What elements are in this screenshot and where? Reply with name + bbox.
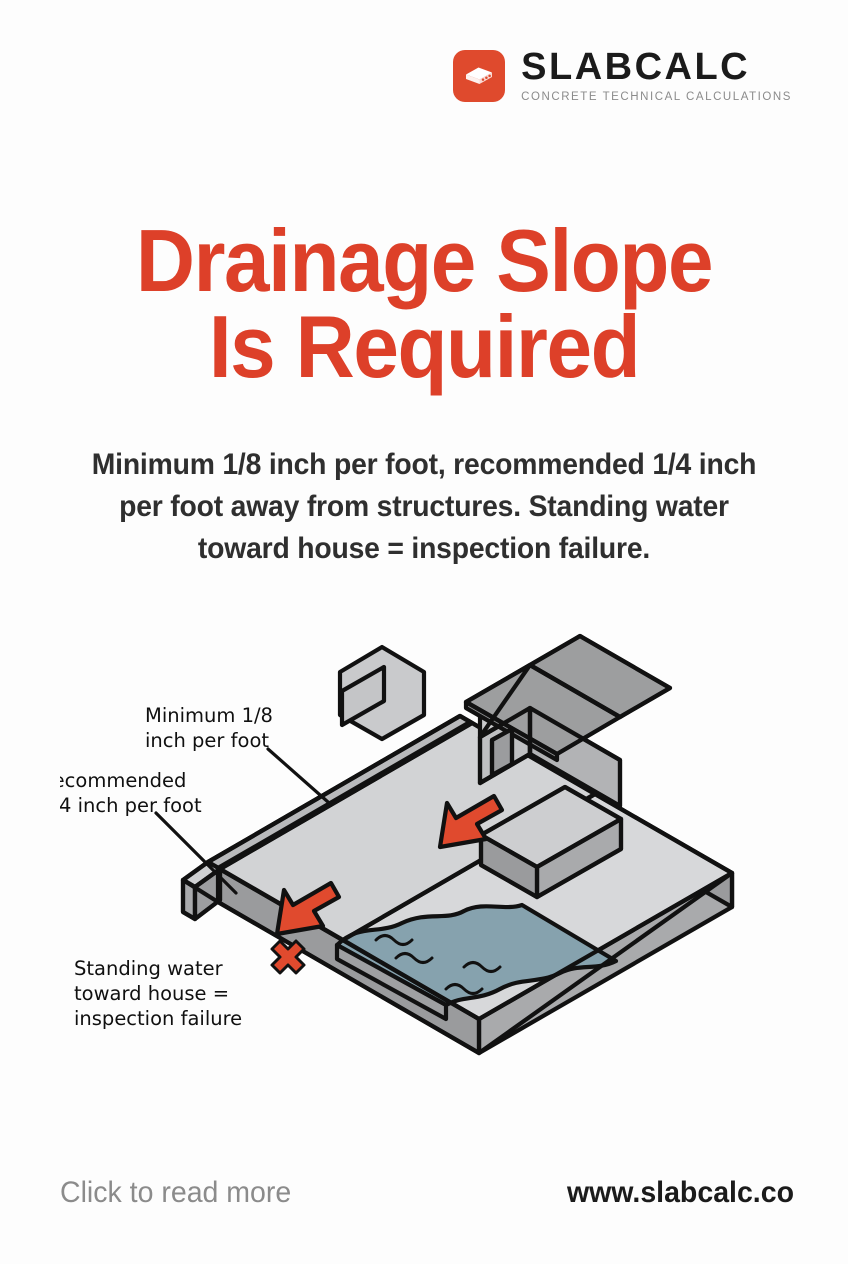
infographic-page: SLABCALC CONCRETE TECHNICAL CALCULATIONS… — [0, 0, 848, 1264]
x-mark-icon — [272, 941, 304, 973]
brand-tagline: CONCRETE TECHNICAL CALCULATIONS — [521, 92, 792, 104]
brand-logo[interactable]: SLABCALC CONCRETE TECHNICAL CALCULATIONS — [453, 48, 792, 104]
website-url[interactable]: www.slabcalc.co — [567, 1176, 794, 1210]
annotation-standing-line-1: Standing water — [74, 957, 224, 980]
read-more-link[interactable]: Click to read more — [60, 1176, 291, 1210]
brand-text: SLABCALC CONCRETE TECHNICAL CALCULATIONS — [521, 48, 792, 104]
annotation-recommended-line-2: 1/4 inch per foot — [60, 794, 202, 817]
annotation-minimum-slope: Minimum 1/8 inch per foot — [145, 704, 273, 752]
annotation-standing-water: Standing water toward house = inspection… — [74, 957, 242, 1030]
page-title: Drainage Slope Is Required — [30, 218, 819, 390]
drainage-slope-diagram: Minimum 1/8 inch per foot Recommended 1/… — [60, 605, 788, 1075]
brand-name: SLABCALC — [521, 48, 750, 86]
slab-block-icon — [453, 50, 505, 102]
annotation-minimum-line-2: inch per foot — [145, 729, 269, 752]
page-title-line-1: Drainage Slope — [136, 211, 712, 310]
page-subtitle: Minimum 1/8 inch per foot, recommended 1… — [76, 444, 771, 570]
annotation-recommended-line-1: Recommended — [60, 769, 186, 792]
annotation-standing-line-3: inspection failure — [74, 1007, 242, 1030]
page-title-line-2: Is Required — [30, 304, 819, 390]
annotation-standing-line-2: toward house = — [74, 982, 229, 1005]
annotation-minimum-line-1: Minimum 1/8 — [145, 704, 273, 727]
annotation-recommended-slope: Recommended 1/4 inch per foot — [60, 769, 202, 817]
leader-line-minimum — [268, 749, 328, 802]
